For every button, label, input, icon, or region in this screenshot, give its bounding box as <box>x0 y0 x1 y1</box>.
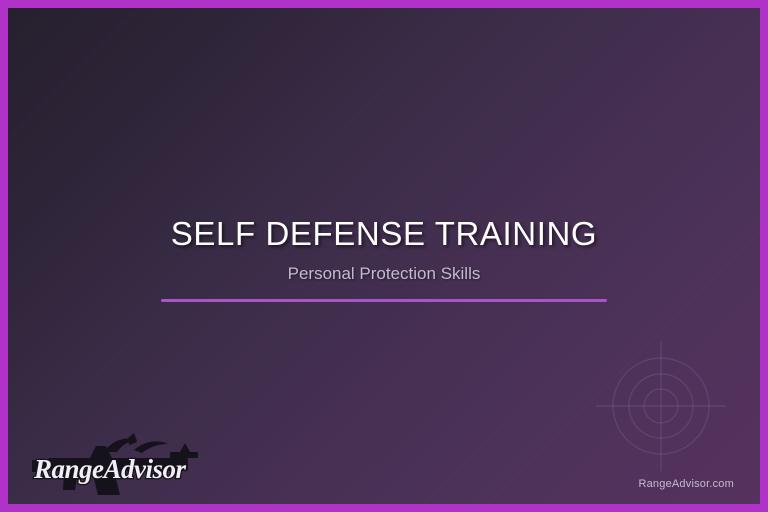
brand-logo: RangeAdvisor <box>30 432 202 500</box>
page-title: SELF DEFENSE TRAINING <box>8 214 760 254</box>
site-watermark: RangeAdvisor.com <box>638 478 734 490</box>
divider-rule <box>161 299 607 302</box>
crosshair-target-icon <box>576 321 746 491</box>
page-subtitle: Personal Protection Skills <box>8 263 760 285</box>
slide-headline-block: SELF DEFENSE TRAINING Personal Protectio… <box>8 214 760 302</box>
brand-logo-text: RangeAdvisor <box>33 454 187 484</box>
presentation-slide: SELF DEFENSE TRAINING Personal Protectio… <box>0 0 768 512</box>
